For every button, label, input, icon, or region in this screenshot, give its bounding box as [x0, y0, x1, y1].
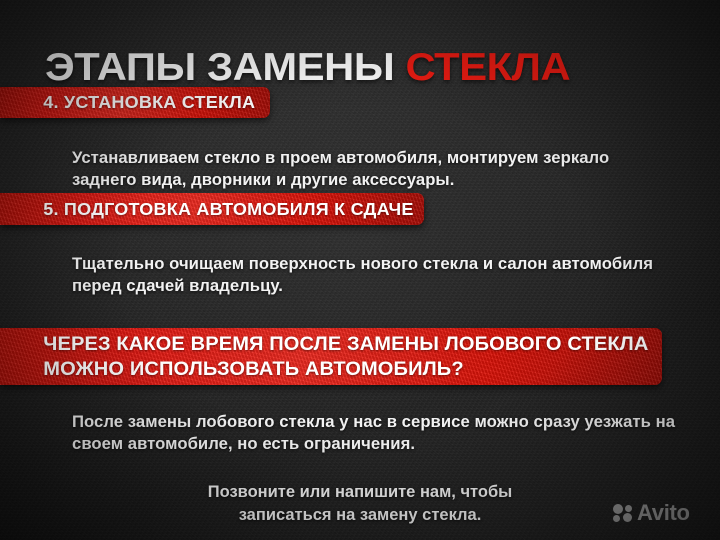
avito-wordmark: Avito [637, 502, 690, 524]
page-title-white-part: ЭТАПЫ ЗАМЕНЫ [45, 46, 405, 89]
poster-canvas: ЭТАПЫ ЗАМЕНЫ СТЕКЛА 4. УСТАНОВКА СТЕКЛА … [0, 0, 720, 540]
step-banner-5-label: 5. ПОДГОТОВКА АВТОМОБИЛЯ К СДАЧЕ [0, 199, 436, 220]
cta-line-2: записаться на замену стекла. [0, 504, 720, 527]
step-body-4: Устанавливаем стекло в проем автомобиля,… [72, 147, 678, 191]
step-banner-5: 5. ПОДГОТОВКА АВТОМОБИЛЯ К СДАЧЕ [0, 193, 424, 225]
question-body: После замены лобового стекла у нас в сер… [72, 411, 688, 455]
step-banner-4-label: 4. УСТАНОВКА СТЕКЛА [0, 92, 278, 113]
call-to-action: Позвоните или напишите нам, чтобы записа… [0, 481, 720, 527]
cta-line-1: Позвоните или напишите нам, чтобы [0, 481, 720, 504]
step-body-5: Тщательно очищаем поверхность нового сте… [72, 253, 678, 297]
avito-watermark: Avito [613, 502, 690, 524]
question-banner: ЧЕРЕЗ КАКОЕ ВРЕМЯ ПОСЛЕ ЗАМЕНЫ ЛОБОВОГО … [0, 328, 662, 385]
avito-dots-icon [613, 504, 633, 523]
page-title: ЭТАПЫ ЗАМЕНЫ СТЕКЛА [45, 46, 570, 90]
step-banner-4: 4. УСТАНОВКА СТЕКЛА [0, 87, 270, 118]
question-banner-label: ЧЕРЕЗ КАКОЕ ВРЕМЯ ПОСЛЕ ЗАМЕНЫ ЛОБОВОГО … [0, 332, 682, 382]
page-title-red-part: СТЕКЛА [405, 46, 570, 89]
